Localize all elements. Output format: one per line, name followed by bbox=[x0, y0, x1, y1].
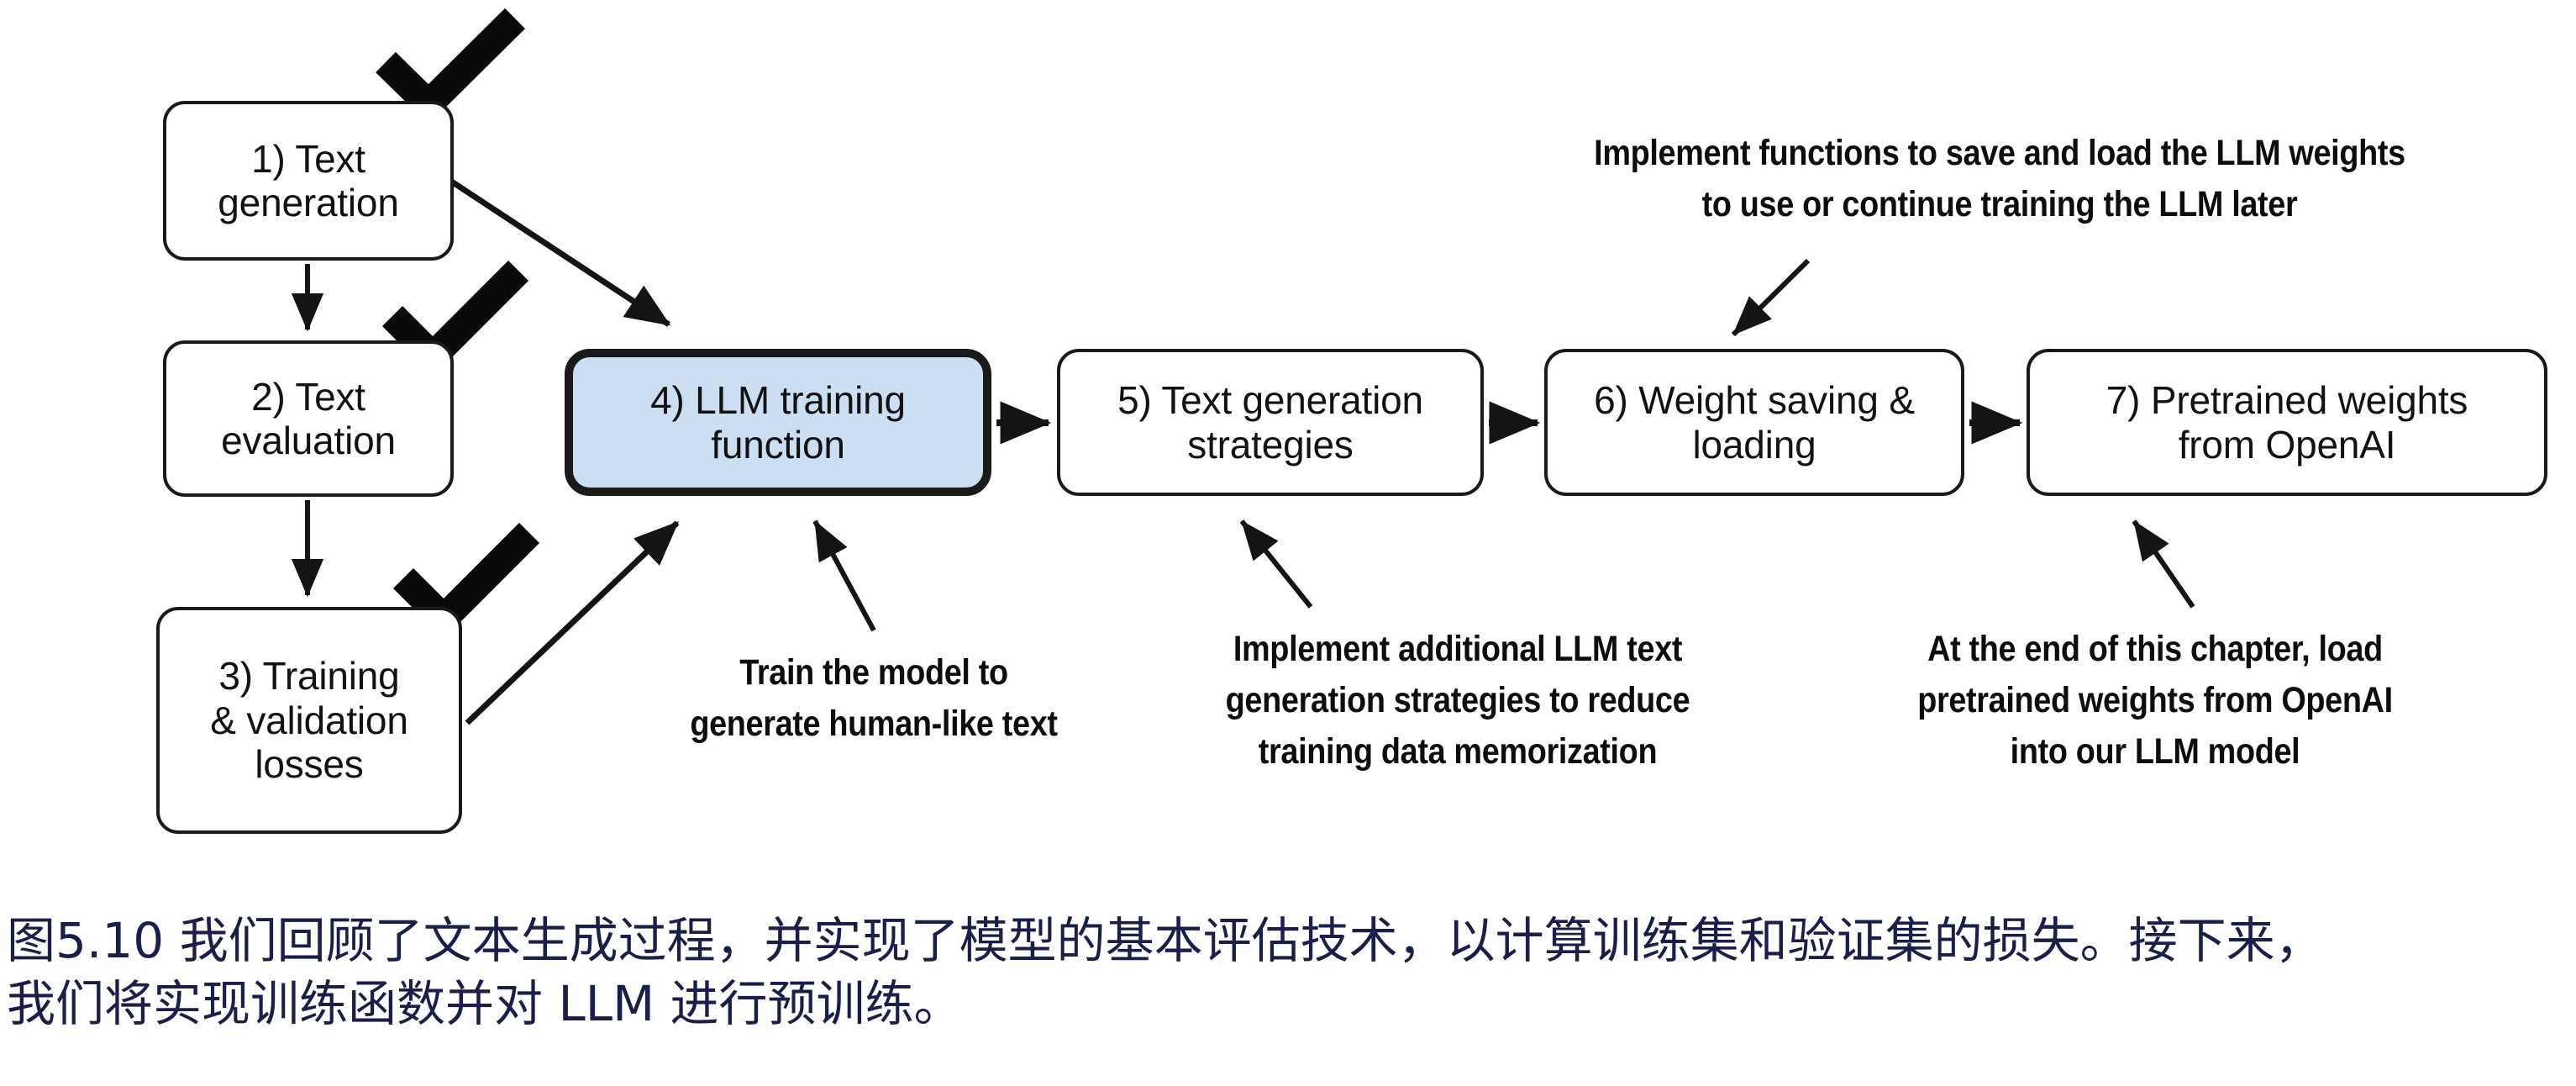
flow-node-text-generation-strategies[interactable]: 5) Text generation strategies bbox=[1057, 349, 1484, 496]
checkmark-node3 bbox=[403, 533, 529, 619]
flow-node-llm-training-function[interactable]: 4) LLM training function bbox=[565, 349, 991, 496]
leader-openai-to-node7 bbox=[2134, 521, 2193, 607]
annotation-load-openai-weights: At the end of this chapter, load pretrai… bbox=[1870, 624, 2440, 778]
figure-caption: 图5.10 我们回顾了文本生成过程，并实现了模型的基本评估技术，以计算训练集和验… bbox=[7, 909, 2569, 1036]
flow-node-text-evaluation[interactable]: 2) Text evaluation bbox=[163, 340, 454, 497]
annotation-train-the-model: Train the model to generate human-like t… bbox=[623, 647, 1125, 750]
annotation-save-load-weights: Implement functions to save and load the… bbox=[1519, 128, 2480, 230]
flow-node-training-validation-losses[interactable]: 3) Training & validation losses bbox=[156, 607, 462, 834]
checkmark-node1 bbox=[386, 18, 515, 104]
figure-canvas: 1) Text generation 2) Text evaluation 3)… bbox=[0, 0, 2576, 1086]
flow-node-pretrained-weights-openai[interactable]: 7) Pretrained weights from OpenAI bbox=[2027, 349, 2547, 496]
arrow-node1-to-node4 bbox=[450, 181, 669, 324]
leader-strat-to-node5 bbox=[1242, 521, 1311, 607]
flow-node-weight-saving-loading[interactable]: 6) Weight saving & loading bbox=[1544, 349, 1964, 496]
annotation-generation-strategies: Implement additional LLM text generation… bbox=[1165, 624, 1749, 778]
leader-train-to-node4 bbox=[815, 521, 874, 630]
flow-node-text-generation[interactable]: 1) Text generation bbox=[163, 101, 454, 261]
leader-save-to-node6 bbox=[1733, 261, 1808, 335]
